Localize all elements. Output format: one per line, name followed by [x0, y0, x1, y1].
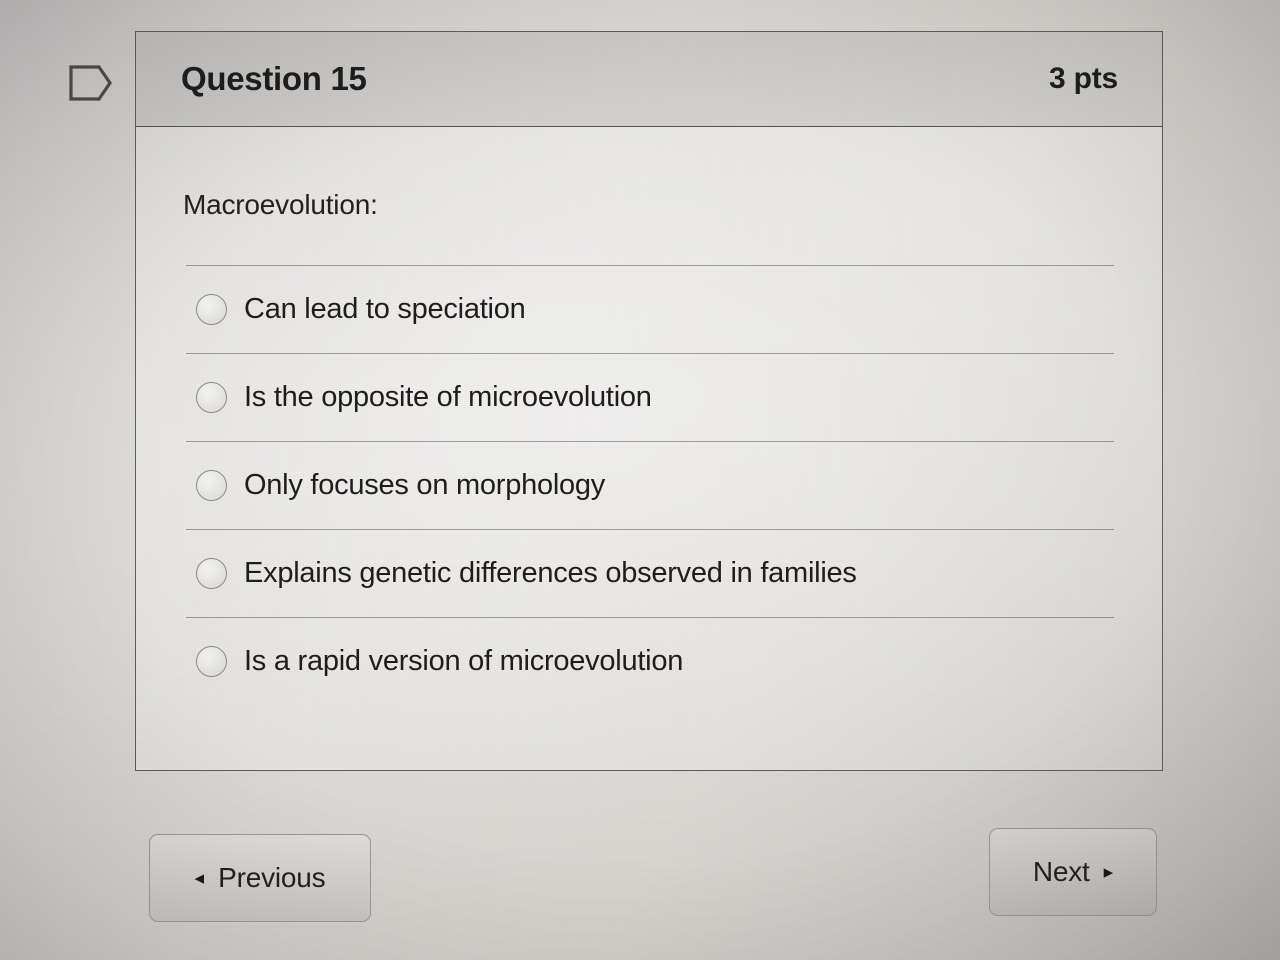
- triangle-right-icon: ▸: [1104, 863, 1114, 882]
- answer-option-label: Explains genetic differences observed in…: [244, 557, 857, 590]
- answer-option-3[interactable]: Only focuses on morphology: [136, 441, 1162, 529]
- previous-button-label: Previous: [218, 862, 325, 894]
- answer-option-2[interactable]: Is the opposite of microevolution: [136, 353, 1162, 441]
- previous-button[interactable]: ◂ Previous: [149, 834, 371, 922]
- question-card: Question 15 3 pts Macroevolution: Can le…: [135, 31, 1163, 771]
- points-badge: 3 pts: [1049, 62, 1118, 96]
- radio-button-icon[interactable]: [196, 646, 227, 677]
- answer-option-label: Is a rapid version of microevolution: [244, 645, 683, 678]
- answer-option-label: Is the opposite of microevolution: [244, 381, 652, 414]
- answer-option-label: Can lead to speciation: [244, 293, 525, 326]
- radio-button-icon[interactable]: [196, 470, 227, 501]
- question-body: Macroevolution: Can lead to speciation I…: [136, 127, 1162, 705]
- radio-button-icon[interactable]: [196, 294, 227, 325]
- radio-button-icon[interactable]: [196, 558, 227, 589]
- answer-option-label: Only focuses on morphology: [244, 469, 605, 502]
- answer-options-list: Can lead to speciation Is the opposite o…: [136, 265, 1162, 705]
- question-prompt: Macroevolution:: [136, 127, 1162, 221]
- next-button[interactable]: Next ▸: [989, 828, 1157, 916]
- answer-option-1[interactable]: Can lead to speciation: [136, 265, 1162, 353]
- next-button-label: Next: [1033, 856, 1090, 888]
- answer-option-4[interactable]: Explains genetic differences observed in…: [136, 529, 1162, 617]
- page-title: Question 15: [181, 60, 367, 98]
- radio-button-icon[interactable]: [196, 382, 227, 413]
- flag-outline-icon[interactable]: [66, 60, 114, 106]
- question-header: Question 15 3 pts: [136, 32, 1162, 127]
- answer-option-5[interactable]: Is a rapid version of microevolution: [136, 617, 1162, 705]
- triangle-left-icon: ◂: [195, 869, 205, 888]
